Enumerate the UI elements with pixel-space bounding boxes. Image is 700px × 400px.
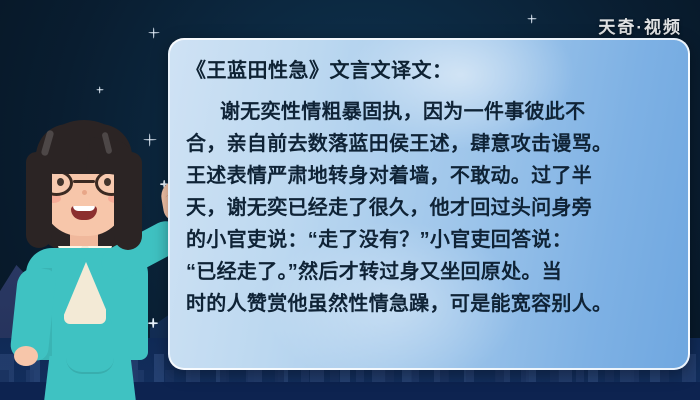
panel-line: 王述表情严肃地转身对着墙，不敢动。过了半 (186, 160, 676, 192)
skirt (44, 356, 136, 400)
sparkle-icon (527, 14, 536, 23)
panel-line: 合，亲自前去数落蓝田侯王述，肆意攻击谩骂。 (186, 128, 676, 160)
sparkle-icon (96, 86, 103, 93)
hair-strand-left (26, 152, 52, 248)
panel-body-text: 谢无奕性情粗暴固执，因为一件事彼此不合，亲自前去数落蓝田侯王述，肆意攻击谩骂。王… (186, 96, 676, 320)
panel-title: 《王蓝田性急》文言文译文： (186, 56, 676, 86)
panel-line: 时的人赞赏他虽然性情急躁，可是能宽容别人。 (186, 288, 676, 320)
panel-line: “已经走了。”然后才转过身又坐回原处。当 (186, 256, 676, 288)
sparkle-icon (148, 27, 159, 38)
hair-strand-right (114, 152, 142, 250)
translation-panel: 《王蓝田性急》文言文译文： 谢无奕性情粗暴固执，因为一件事彼此不合，亲自前去数落… (168, 38, 690, 370)
hand-left (14, 346, 38, 366)
panel-content: 《王蓝田性急》文言文译文： 谢无奕性情粗暴固执，因为一件事彼此不合，亲自前去数落… (170, 40, 688, 320)
panel-line: 天，谢无奕已经走了很久，他才回过头问身旁 (186, 192, 676, 224)
panel-line: 的小官吏说：“走了没有？”小官吏回答说： (186, 224, 676, 256)
panel-line: 谢无奕性情粗暴固执，因为一件事彼此不 (186, 96, 676, 128)
video-frame: 天奇·视频 (0, 0, 700, 400)
channel-watermark: 天奇·视频 (598, 13, 682, 38)
glasses-bridge (73, 180, 95, 183)
